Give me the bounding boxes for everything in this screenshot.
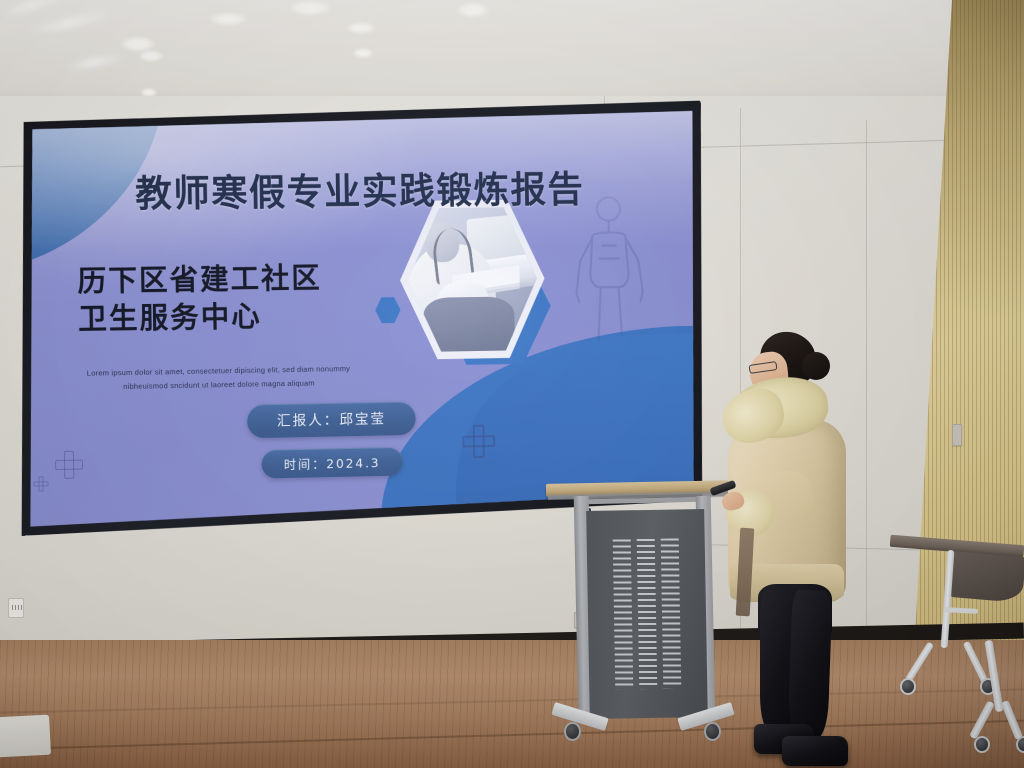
medical-cross-icon bbox=[55, 451, 83, 480]
table-caster bbox=[1016, 736, 1024, 753]
person-hair-bun bbox=[802, 352, 830, 380]
room-scene: 教师寒假专业实践锻炼报告 历下区省建工社区 卫生服务中心 Lorem ipsum… bbox=[0, 0, 1024, 768]
hexagon-small-accent bbox=[375, 296, 401, 324]
lectern-vent-grid bbox=[613, 539, 682, 690]
slide-subtitle: 历下区省建工社区 卫生服务中心 bbox=[77, 260, 322, 338]
power-outlet[interactable] bbox=[8, 598, 24, 618]
presentation-slide[interactable]: 教师寒假专业实践锻炼报告 历下区省建工社区 卫生服务中心 Lorem ipsum… bbox=[20, 108, 699, 527]
medical-cross-icon bbox=[462, 424, 495, 458]
lectern-front-panel bbox=[586, 509, 708, 719]
slide-date-pill: 时间：2024.3 bbox=[261, 446, 403, 478]
slide-subtitle-line-1: 历下区省建工社区 bbox=[77, 260, 322, 301]
lectern-vent-column bbox=[661, 539, 682, 689]
lectern-caster bbox=[564, 722, 581, 741]
person-leg bbox=[787, 589, 832, 738]
ceiling-downlight bbox=[346, 22, 376, 34]
medical-cross-icon bbox=[34, 477, 49, 492]
slide-title: 教师寒假专业实践锻炼报告 bbox=[21, 158, 694, 219]
wall-sensor bbox=[952, 424, 962, 446]
slide-hexagon-photo bbox=[399, 196, 561, 377]
ceiling-downlight bbox=[138, 50, 164, 62]
slide-presenter-pill: 汇报人：邱宝莹 bbox=[247, 401, 416, 438]
presenter-person bbox=[716, 332, 876, 768]
table-leg bbox=[1001, 700, 1023, 740]
folding-table bbox=[978, 640, 1024, 760]
table-leg bbox=[941, 550, 955, 648]
table-leg bbox=[905, 641, 934, 682]
table-folded-panel bbox=[948, 551, 1024, 603]
table-caster bbox=[974, 736, 990, 753]
person-boot bbox=[782, 736, 848, 766]
ceiling-downlight bbox=[288, 0, 332, 16]
slide-subtitle-line-2: 卫生服务中心 bbox=[78, 297, 323, 338]
ceiling-downlight bbox=[208, 12, 248, 26]
slide-body-text: Lorem ipsum dolor sit amet, consectetuer… bbox=[55, 361, 382, 396]
floor-object bbox=[0, 715, 51, 758]
table-caster bbox=[900, 678, 916, 695]
lectern-vent-column bbox=[613, 539, 634, 689]
wall-display[interactable]: 教师寒假专业实践锻炼报告 历下区省建工社区 卫生服务中心 Lorem ipsum… bbox=[11, 99, 708, 536]
lectern-vent-column bbox=[637, 539, 658, 689]
lectern[interactable] bbox=[546, 478, 742, 768]
ceiling-downlight bbox=[456, 2, 490, 18]
ceiling-downlight bbox=[352, 48, 374, 58]
